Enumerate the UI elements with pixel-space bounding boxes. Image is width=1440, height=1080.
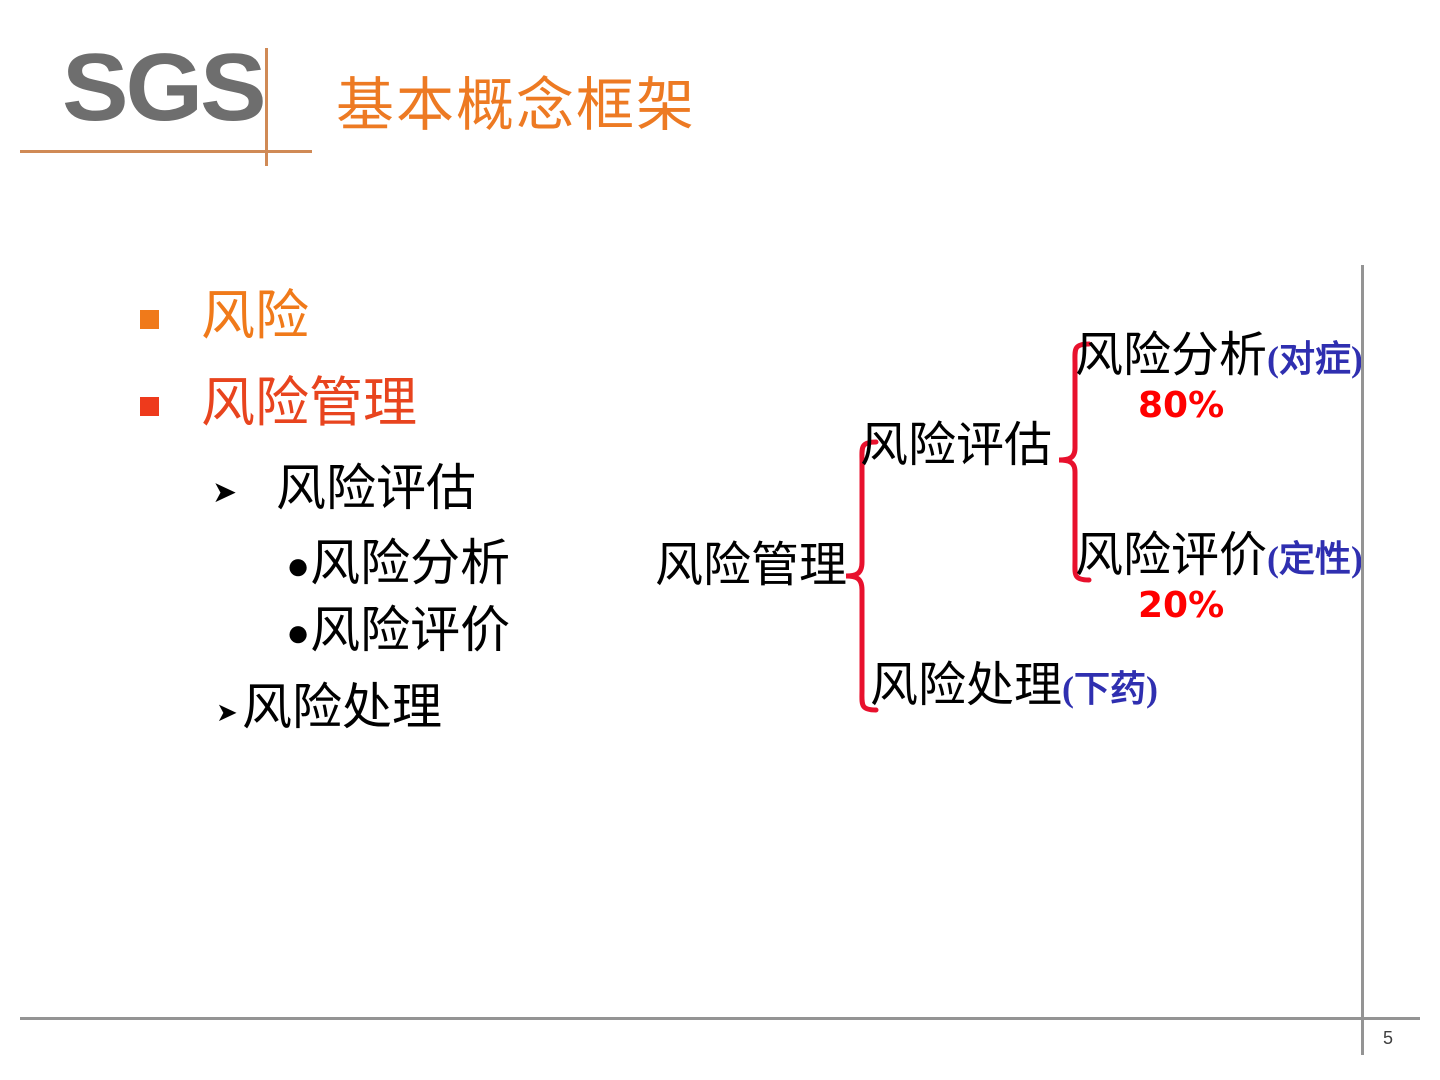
list-item-label: 风险评价 bbox=[310, 603, 510, 658]
arrow-bullet-icon: ➤ bbox=[216, 700, 238, 726]
risk-management-tree-diagram: 风险管理 风险评估 风险处理(下药) 风险分析(对症) 80% 风险评价(定性)… bbox=[630, 250, 1390, 750]
page-title: 基本概念框架 bbox=[336, 58, 696, 142]
list-item-risk: 风险 bbox=[140, 288, 700, 345]
outline-list: 风险 风险管理 ➤ 风险评估 ● 风险分析 ● 风险评价 ➤ 风险处理 bbox=[140, 288, 700, 735]
node-label: 风险管理 bbox=[655, 539, 847, 592]
node-label: 风险评价 bbox=[1075, 529, 1267, 582]
list-item-risk-management: 风险管理 bbox=[140, 375, 700, 432]
list-item-label: 风险分析 bbox=[310, 536, 510, 591]
percent-risk-analysis: 80% bbox=[1138, 385, 1224, 426]
list-item-label: 风险处理 bbox=[242, 680, 442, 735]
percent-risk-evaluation: 20% bbox=[1138, 585, 1224, 626]
bottom-frame-line bbox=[20, 1017, 1420, 1020]
list-item-risk-assessment: ➤ 风险评估 bbox=[212, 461, 700, 516]
list-item-label: 风险 bbox=[201, 288, 309, 345]
node-label: 风险分析 bbox=[1075, 329, 1267, 382]
page-number: 5 bbox=[1383, 1028, 1393, 1049]
node-qualifier: (对症) bbox=[1267, 339, 1363, 379]
list-item-label: 风险评估 bbox=[276, 461, 476, 516]
logo-vertical-rule bbox=[265, 48, 268, 166]
square-bullet-icon bbox=[140, 310, 159, 329]
right-frame-line bbox=[1361, 265, 1364, 1055]
dot-bullet-icon: ● bbox=[286, 546, 310, 586]
node-risk-evaluation: 风险评价(定性) bbox=[1075, 532, 1363, 580]
node-risk-analysis: 风险分析(对症) bbox=[1075, 332, 1363, 380]
list-item-label: 风险管理 bbox=[201, 375, 417, 432]
node-risk-treatment: 风险处理(下药) bbox=[870, 662, 1158, 710]
slide-canvas: SGS 基本概念框架 风险 风险管理 ➤ 风险评估 ● 风险分析 ● 风险评价 … bbox=[0, 0, 1440, 1080]
node-qualifier: (定性) bbox=[1267, 539, 1363, 579]
node-risk-management: 风险管理 bbox=[655, 542, 847, 590]
dot-bullet-icon: ● bbox=[286, 613, 310, 653]
list-item-risk-treatment: ➤ 风险处理 bbox=[216, 680, 700, 735]
square-bullet-icon bbox=[140, 397, 159, 416]
arrow-bullet-icon: ➤ bbox=[212, 478, 246, 508]
node-risk-assessment: 风险评估 bbox=[860, 422, 1052, 470]
node-label: 风险处理 bbox=[870, 659, 1062, 712]
logo-horizontal-rule bbox=[20, 150, 312, 153]
sgs-logo-text: SGS bbox=[62, 40, 263, 136]
node-label: 风险评估 bbox=[860, 419, 1052, 472]
sgs-logo: SGS bbox=[62, 48, 302, 166]
node-qualifier: (下药) bbox=[1062, 669, 1158, 709]
